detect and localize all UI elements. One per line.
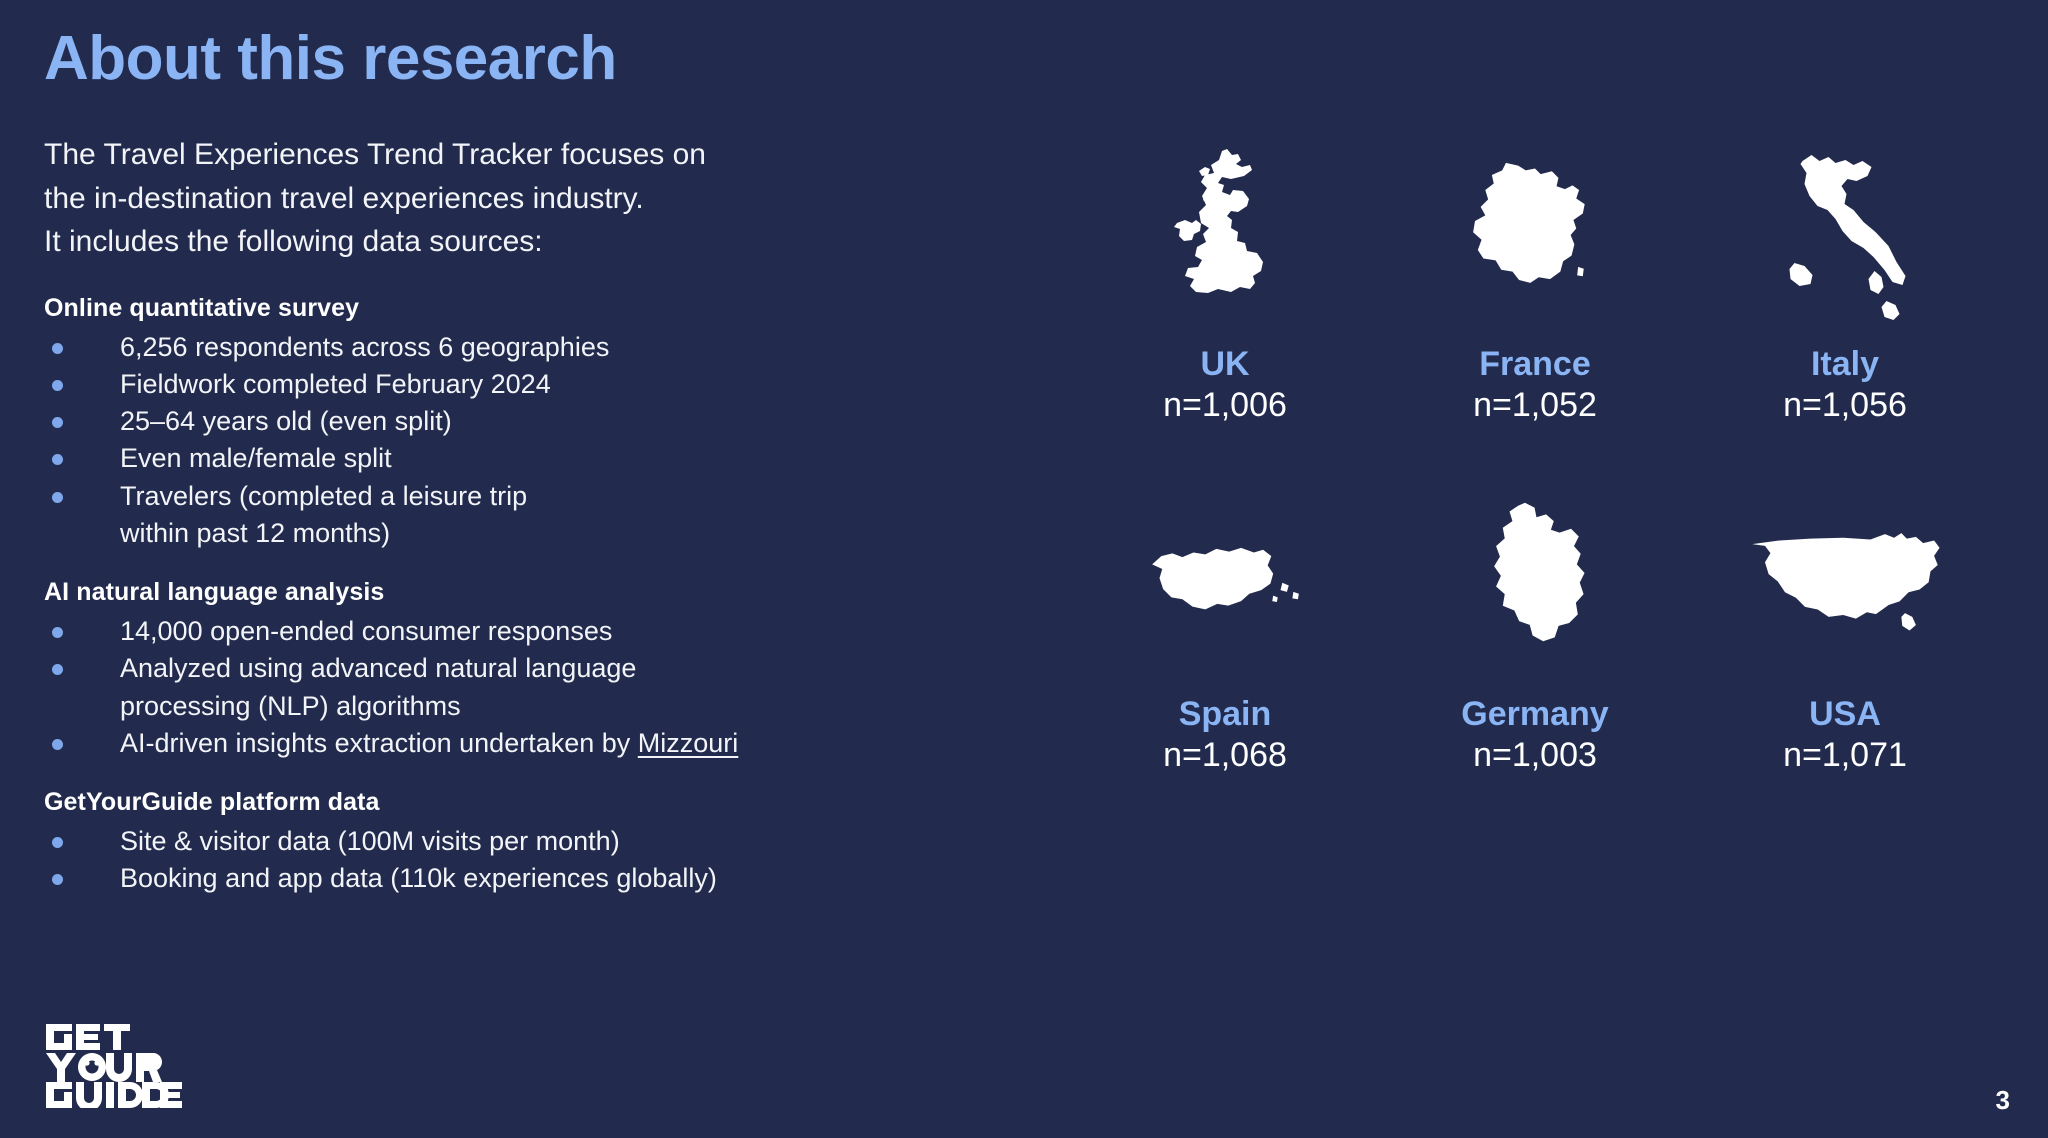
bullet-dot-icon [52, 492, 63, 503]
country-cell-italy: Italy n=1,056 [1695, 135, 1995, 475]
bullet-dot-icon [52, 417, 63, 428]
country-name: France [1479, 345, 1591, 384]
bullet-dot-icon [52, 664, 63, 675]
country-cell-germany: Germany n=1,003 [1385, 485, 1685, 825]
country-sample-size: n=1,052 [1473, 384, 1597, 427]
page-number: 3 [1996, 1085, 2010, 1116]
list-item: Travelers (completed a leisure trip with… [44, 478, 964, 553]
list-item-label: 6,256 respondents across 6 geographies [120, 332, 609, 362]
section-online-quantitative-survey: Online quantitative survey 6,256 respond… [44, 294, 964, 553]
country-name: UK [1200, 345, 1249, 384]
usa-map-icon [1695, 485, 1995, 685]
list-item-label: Fieldwork completed February 2024 [120, 369, 551, 399]
france-map-icon [1385, 135, 1685, 335]
mizzouri-link[interactable]: Mizzouri [638, 728, 739, 758]
slide-root: About this research The Travel Experienc… [0, 0, 2048, 1138]
list-item-label: AI-driven insights extraction undertaken… [120, 728, 638, 758]
bullet-list: 14,000 open-ended consumer responses Ana… [44, 613, 964, 762]
country-name: USA [1809, 695, 1881, 734]
germany-map-icon [1385, 485, 1685, 685]
getyourguide-logo [44, 1022, 184, 1108]
italy-map-icon [1695, 135, 1995, 335]
list-item: 14,000 open-ended consumer responses [44, 613, 964, 650]
country-sample-size: n=1,006 [1163, 384, 1287, 427]
list-item-label: 25–64 years old (even split) [120, 406, 452, 436]
intro-paragraph: The Travel Experiences Trend Tracker foc… [44, 133, 964, 264]
list-item-label: Travelers (completed a leisure trip with… [120, 481, 527, 548]
uk-map-icon [1075, 135, 1375, 335]
country-sample-grid: UK n=1,006 France n=1,052 [1075, 135, 1995, 825]
country-cell-usa: USA n=1,071 [1695, 485, 1995, 825]
section-getyourguide-platform-data: GetYourGuide platform data Site & visito… [44, 788, 964, 898]
bullet-dot-icon [52, 454, 63, 465]
section-heading: Online quantitative survey [44, 294, 964, 323]
list-item-label: Analyzed using advanced natural language… [120, 653, 636, 720]
bullet-dot-icon [52, 837, 63, 848]
country-name: Spain [1179, 695, 1272, 734]
country-cell-uk: UK n=1,006 [1075, 135, 1375, 475]
country-cell-france: France n=1,052 [1385, 135, 1685, 475]
bullet-dot-icon [52, 874, 63, 885]
section-heading: GetYourGuide platform data [44, 788, 964, 817]
bullet-list: 6,256 respondents across 6 geographies F… [44, 329, 964, 553]
country-sample-size: n=1,056 [1783, 384, 1907, 427]
page-title: About this research [44, 26, 964, 91]
list-item: Even male/female split [44, 440, 964, 477]
bullet-dot-icon [52, 380, 63, 391]
list-item: 25–64 years old (even split) [44, 403, 964, 440]
bullet-dot-icon [52, 627, 63, 638]
list-item: 6,256 respondents across 6 geographies [44, 329, 964, 366]
list-item-label: Booking and app data (110k experiences g… [120, 863, 717, 893]
list-item: Fieldwork completed February 2024 [44, 366, 964, 403]
list-item: Analyzed using advanced natural language… [44, 650, 964, 725]
bullet-dot-icon [52, 343, 63, 354]
country-cell-spain: Spain n=1,068 [1075, 485, 1375, 825]
list-item-label: Even male/female split [120, 443, 392, 473]
bullet-dot-icon [52, 739, 63, 750]
spain-map-icon [1075, 485, 1375, 685]
list-item: Booking and app data (110k experiences g… [44, 860, 964, 897]
list-item: Site & visitor data (100M visits per mon… [44, 823, 964, 860]
bullet-list: Site & visitor data (100M visits per mon… [44, 823, 964, 898]
country-sample-size: n=1,071 [1783, 734, 1907, 777]
country-sample-size: n=1,068 [1163, 734, 1287, 777]
section-heading: AI natural language analysis [44, 578, 964, 607]
country-sample-size: n=1,003 [1473, 734, 1597, 777]
list-item-label: Site & visitor data (100M visits per mon… [120, 826, 620, 856]
left-content-column: About this research The Travel Experienc… [44, 26, 964, 924]
country-name: Italy [1811, 345, 1879, 384]
country-name: Germany [1461, 695, 1608, 734]
list-item-label: 14,000 open-ended consumer responses [120, 616, 612, 646]
list-item: AI-driven insights extraction undertaken… [44, 725, 964, 762]
section-ai-natural-language-analysis: AI natural language analysis 14,000 open… [44, 578, 964, 762]
